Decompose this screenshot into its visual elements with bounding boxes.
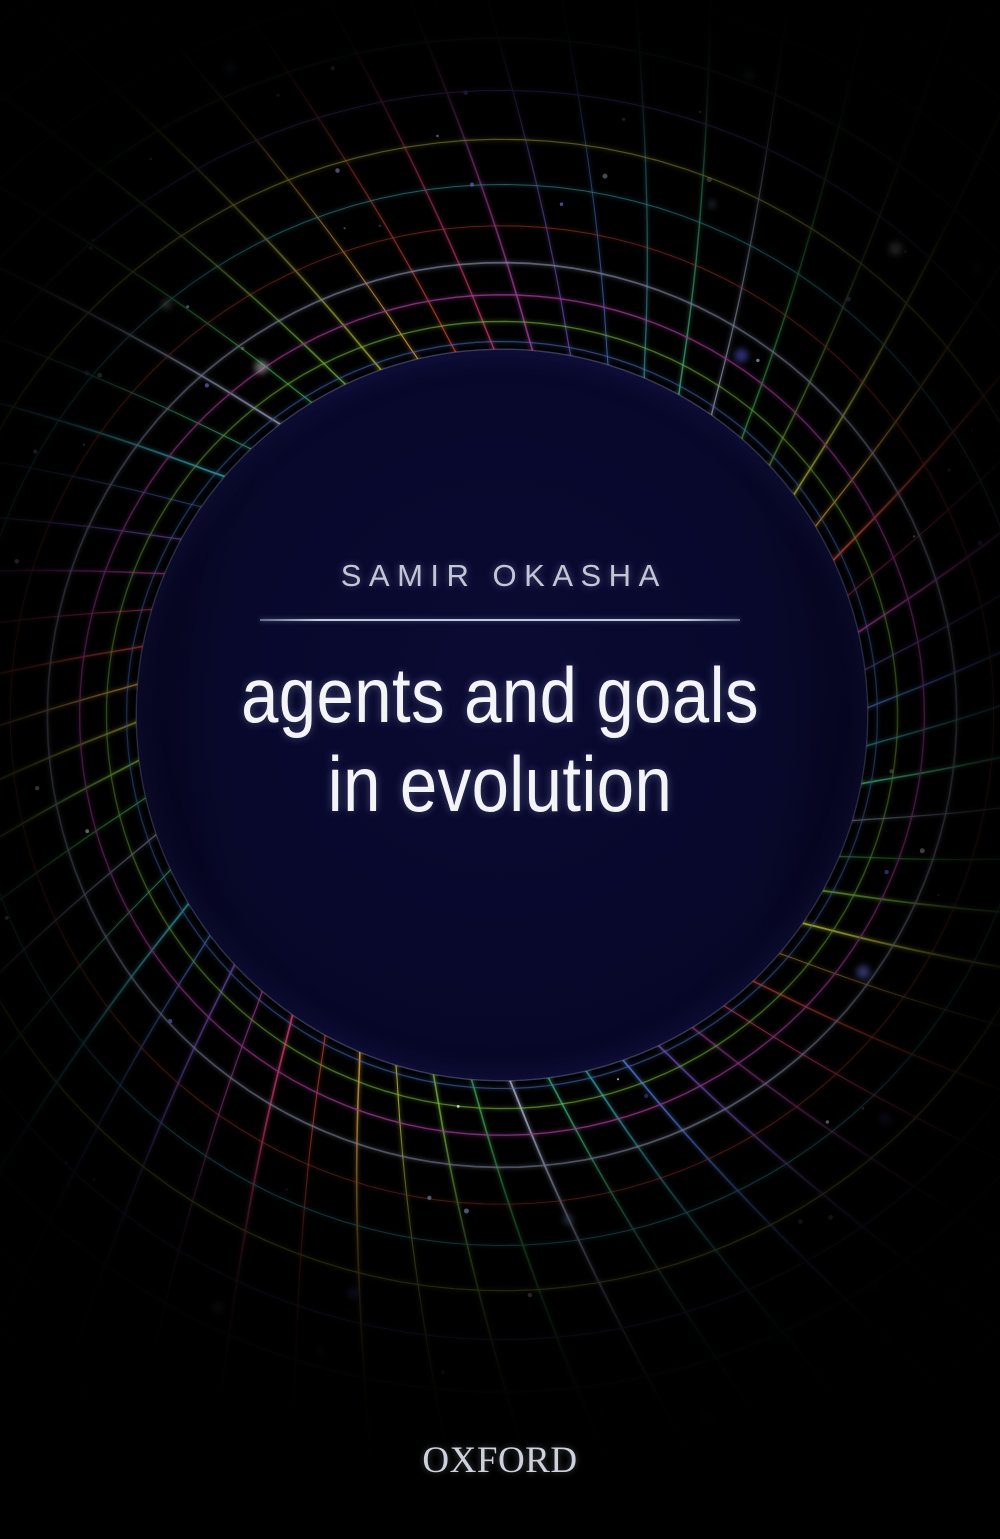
title-divider (260, 619, 740, 621)
title-line-1: agents and goals (70, 651, 930, 740)
author-name: SAMIR OKASHA (0, 560, 1000, 591)
oxford-logo: OXFORD (422, 1439, 577, 1482)
cover-text-block: SAMIR OKASHA agents and goals in evoluti… (0, 560, 1000, 829)
publisher-block: OXFORD (0, 1439, 1000, 1482)
book-title: agents and goals in evolution (70, 651, 930, 829)
title-divider-wrap (260, 619, 740, 621)
book-cover: SAMIR OKASHA agents and goals in evoluti… (0, 0, 1000, 1539)
title-line-2: in evolution (70, 740, 930, 829)
